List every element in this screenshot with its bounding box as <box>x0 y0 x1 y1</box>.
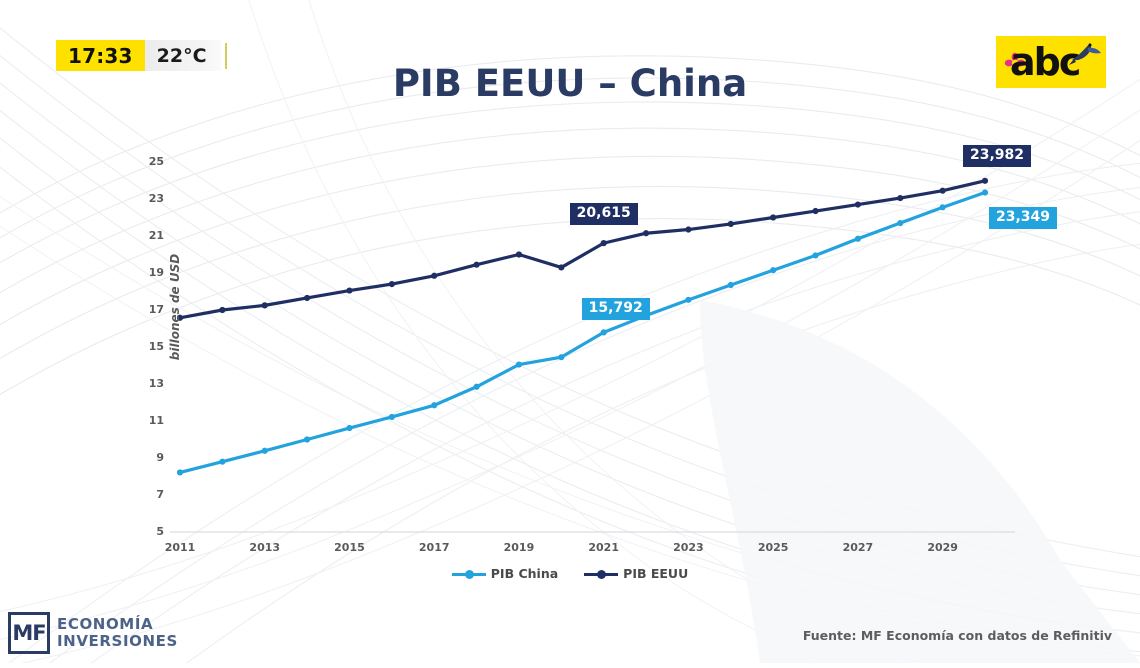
y-axis-tick-label: 15 <box>134 340 164 353</box>
data-point-marker <box>516 361 522 367</box>
y-axis-tick-label: 21 <box>134 229 164 242</box>
x-axis-tick-label: 2015 <box>326 541 372 554</box>
x-axis-tick-label: 2021 <box>581 541 627 554</box>
data-point-marker <box>558 354 564 360</box>
data-label-callout: 20,615 <box>570 203 638 225</box>
legend-label-eeuu: PIB EEUU <box>623 566 688 581</box>
x-axis-tick-label: 2017 <box>411 541 457 554</box>
data-point-marker <box>304 295 310 301</box>
data-point-marker <box>389 281 395 287</box>
y-axis-tick-label: 5 <box>134 525 164 538</box>
data-point-marker <box>177 469 183 475</box>
x-axis-tick-label: 2011 <box>157 541 203 554</box>
data-point-marker <box>855 236 861 242</box>
widget-divider <box>225 43 227 69</box>
data-point-marker <box>389 414 395 420</box>
data-point-marker <box>431 402 437 408</box>
temperature-readout: 22°C <box>145 40 221 71</box>
data-point-marker <box>812 208 818 214</box>
data-point-marker <box>219 307 225 313</box>
data-point-marker <box>982 189 988 195</box>
data-point-marker <box>770 267 776 273</box>
data-point-marker <box>262 448 268 454</box>
data-point-marker <box>897 195 903 201</box>
x-axis-tick-label: 2029 <box>920 541 966 554</box>
data-point-marker <box>262 302 268 308</box>
y-axis-tick-label: 17 <box>134 303 164 316</box>
y-axis-tick-label: 13 <box>134 377 164 390</box>
y-axis-tick-label: 19 <box>134 266 164 279</box>
data-point-marker <box>346 425 352 431</box>
data-point-marker <box>431 273 437 279</box>
hummingbird-icon <box>1068 38 1102 68</box>
x-axis-tick-label: 2019 <box>496 541 542 554</box>
data-label-callout: 23,349 <box>989 207 1057 229</box>
data-point-marker <box>601 329 607 335</box>
x-axis-tick-label: 2023 <box>665 541 711 554</box>
data-label-callout: 23,982 <box>963 145 1031 167</box>
data-point-marker <box>728 282 734 288</box>
y-axis-tick-label: 11 <box>134 414 164 427</box>
data-point-marker <box>728 221 734 227</box>
data-point-marker <box>643 230 649 236</box>
data-point-marker <box>346 287 352 293</box>
data-label-callout: 15,792 <box>582 298 650 320</box>
series-line <box>180 193 985 473</box>
legend-label-china: PIB China <box>491 566 558 581</box>
legend-swatch-china <box>452 568 486 580</box>
data-point-marker <box>219 459 225 465</box>
legend-item-eeuu[interactable]: PIB EEUU <box>584 566 688 581</box>
data-point-marker <box>473 262 479 268</box>
chart-legend: PIB China PIB EEUU <box>0 566 1140 581</box>
mf-monogram: MF <box>8 612 50 654</box>
data-point-marker <box>304 436 310 442</box>
clock-time: 17:33 <box>56 40 145 71</box>
legend-swatch-eeuu <box>584 568 618 580</box>
data-point-marker <box>601 240 607 246</box>
clock-temperature-widget: 17:33 22°C <box>56 40 227 71</box>
data-point-marker <box>940 204 946 210</box>
mf-line-economia: ECONOMÍA <box>57 616 178 633</box>
series-line <box>180 181 985 318</box>
data-point-marker <box>685 226 691 232</box>
x-axis-tick-label: 2025 <box>750 541 796 554</box>
y-axis-tick-label: 9 <box>134 451 164 464</box>
source-note: Fuente: MF Economía con datos de Refinit… <box>803 628 1112 643</box>
data-point-marker <box>897 220 903 226</box>
data-point-marker <box>812 252 818 258</box>
data-point-marker <box>770 214 776 220</box>
y-axis-tick-label: 23 <box>134 192 164 205</box>
data-point-marker <box>558 264 564 270</box>
data-point-marker <box>473 384 479 390</box>
mf-line-inversiones: INVERSIONES <box>57 633 178 650</box>
mf-wordmark: ECONOMÍA INVERSIONES <box>57 616 178 650</box>
abc-logo: abc <box>996 36 1106 88</box>
legend-item-china[interactable]: PIB China <box>452 566 558 581</box>
y-axis-title: billones de USD <box>168 254 182 360</box>
x-axis-tick-label: 2027 <box>835 541 881 554</box>
y-axis-tick-label: 25 <box>134 155 164 168</box>
mf-economia-logo: MF ECONOMÍA INVERSIONES <box>8 612 178 654</box>
data-point-marker <box>855 201 861 207</box>
x-axis-tick-label: 2013 <box>242 541 288 554</box>
data-point-marker <box>982 178 988 184</box>
data-point-marker <box>516 251 522 257</box>
y-axis-tick-label: 7 <box>134 488 164 501</box>
data-point-marker <box>940 188 946 194</box>
data-point-marker <box>685 297 691 303</box>
